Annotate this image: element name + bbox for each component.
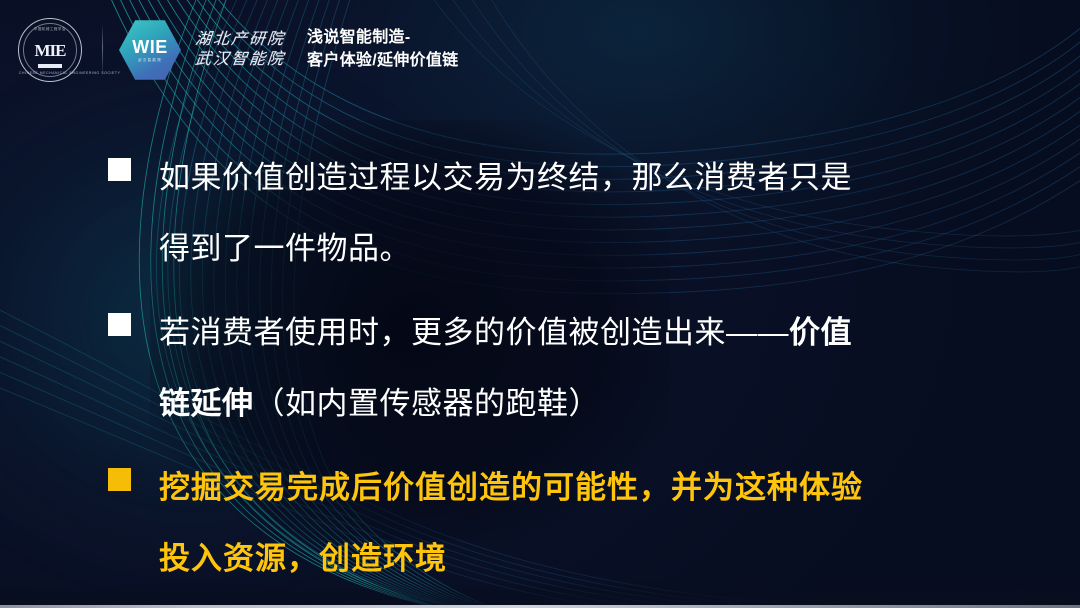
wie-logo: WIE 武汉智能院 bbox=[119, 19, 181, 81]
bullet-text-segment: 挖掘交易完成后价值创造的可能性，并为这种体验 bbox=[159, 470, 863, 505]
bullet-text-segment: 若消费者使用时，更多的价值被创造出来—— bbox=[159, 315, 789, 350]
bullet-text-segment: （如内置传感器的跑鞋） bbox=[254, 386, 601, 421]
bullet-line: 如果价值创造过程以交易为终结，那么消费者只是 bbox=[159, 142, 1008, 213]
bottom-fade bbox=[0, 579, 1080, 605]
bullet-text-segment: 得到了一件物品。 bbox=[159, 231, 411, 266]
presentation-slide: 中国机械工程学会 MIE CHINESE MECHANICAL ENGINEER… bbox=[0, 0, 1080, 608]
seal-monogram: MIE bbox=[35, 42, 66, 59]
wie-logo-main: WIE bbox=[132, 38, 168, 56]
mes-seal-logo: 中国机械工程学会 MIE CHINESE MECHANICAL ENGINEER… bbox=[18, 18, 82, 82]
seal-arc-top-text: 中国机械工程学会 bbox=[19, 26, 81, 31]
slide-body: 如果价值创造过程以交易为终结，那么消费者只是得到了一件物品。若消费者使用时，更多… bbox=[108, 142, 1008, 594]
institute-calligraphy: 湖北产研院 武汉智能院 bbox=[195, 31, 285, 70]
bullet-lines: 挖掘交易完成后价值创造的可能性，并为这种体验投入资源，创造环境 bbox=[159, 452, 1008, 594]
bullet-line: 若消费者使用时，更多的价值被创造出来——价值 bbox=[159, 297, 1008, 368]
wie-logo-text: WIE 武汉智能院 bbox=[132, 38, 168, 63]
bullet-lines: 如果价值创造过程以交易为终结，那么消费者只是得到了一件物品。 bbox=[159, 142, 1008, 284]
bullet-block: 若消费者使用时，更多的价值被创造出来——价值链延伸（如内置传感器的跑鞋） bbox=[108, 297, 1008, 439]
institute-calligraphy-line-2: 武汉智能院 bbox=[194, 51, 286, 69]
seal-emblem: MIE bbox=[35, 37, 65, 63]
bullet-line: 挖掘交易完成后价值创造的可能性，并为这种体验 bbox=[159, 452, 1008, 523]
bullet-text-segment: 价值 bbox=[789, 315, 852, 350]
institute-calligraphy-line-1: 湖北产研院 bbox=[194, 31, 286, 49]
slide-title: 浅说智能制造- 客户体验/延伸价值链 bbox=[307, 27, 458, 72]
slide-title-line-1: 浅说智能制造- bbox=[307, 27, 458, 50]
bullet-text-segment: 链延伸 bbox=[159, 386, 254, 421]
bullet-marker-white-icon bbox=[108, 313, 131, 336]
bullet-text-segment: 如果价值创造过程以交易为终结，那么消费者只是 bbox=[159, 160, 852, 195]
bullet-marker-gold-icon bbox=[108, 468, 131, 491]
wie-logo-sub: 武汉智能院 bbox=[132, 59, 168, 63]
slide-header: 中国机械工程学会 MIE CHINESE MECHANICAL ENGINEER… bbox=[0, 0, 458, 100]
bullet-text-segment: 投入资源，创造环境 bbox=[159, 541, 447, 576]
bullet-line: 得到了一件物品。 bbox=[159, 213, 1008, 284]
bullet-block: 挖掘交易完成后价值创造的可能性，并为这种体验投入资源，创造环境 bbox=[108, 452, 1008, 594]
header-divider bbox=[102, 24, 103, 76]
bullet-line: 链延伸（如内置传感器的跑鞋） bbox=[159, 368, 1008, 439]
bullet-marker-white-icon bbox=[108, 158, 131, 181]
bullet-lines: 若消费者使用时，更多的价值被创造出来——价值链延伸（如内置传感器的跑鞋） bbox=[159, 297, 1008, 439]
seal-bar bbox=[38, 64, 62, 68]
bullet-block: 如果价值创造过程以交易为终结，那么消费者只是得到了一件物品。 bbox=[108, 142, 1008, 284]
slide-title-line-2: 客户体验/延伸价值链 bbox=[307, 50, 458, 73]
seal-arc-bottom-text: CHINESE MECHANICAL ENGINEERING SOCIETY bbox=[19, 71, 81, 75]
